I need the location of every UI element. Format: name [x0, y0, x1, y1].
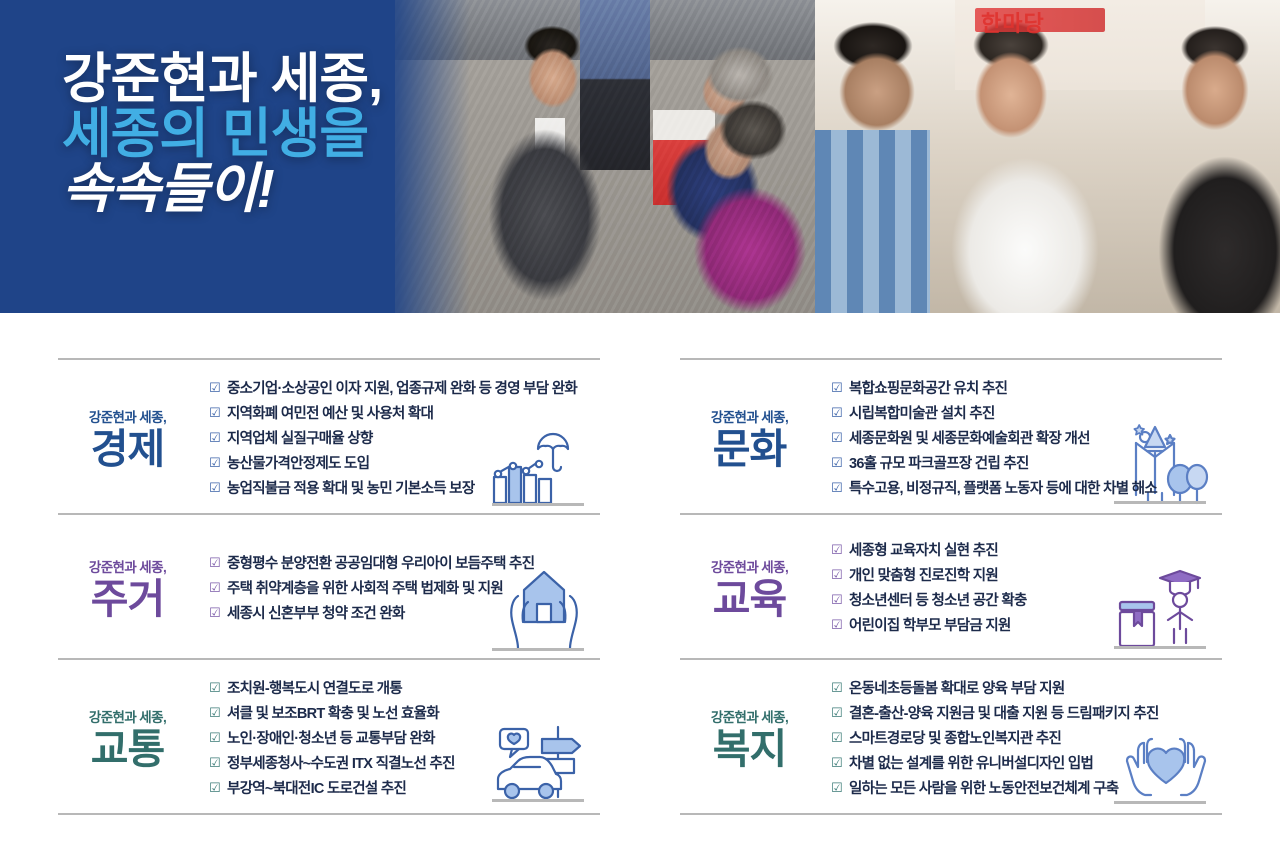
- pledge-item-text: 청소년센터 등 청소년 공간 확충: [849, 590, 1027, 612]
- pledge-item: ☑차별 없는 설계를 위한 유니버설디자인 입법: [831, 751, 1222, 776]
- photo-festival-embrace: [815, 0, 1280, 313]
- pledge-item-text: 세종형 교육자치 실현 추진: [849, 540, 998, 562]
- card-label-경제: 강준현과 세종,경제: [58, 406, 203, 471]
- checkbox-checked-icon: ☑: [831, 378, 842, 399]
- card-title: 교육: [680, 578, 819, 621]
- pledge-item: ☑조치원-행복도시 연결도로 개통: [209, 676, 600, 701]
- pledge-card-복지: 강준현과 세종,복지☑온동네초등돌봄 확대로 양육 부담 지원☑결혼-출산-양육…: [680, 658, 1222, 815]
- pledge-item: ☑정부세종청사~수도권 ITX 직결노선 추진: [209, 751, 600, 776]
- header-banner: 한마당 강준현과 세종, 세종의 민생을 속속들이!: [0, 0, 1280, 313]
- checkbox-checked-icon: ☑: [831, 703, 842, 724]
- pledge-item: ☑특수고용, 비정규직, 플랫폼 노동자 등에 대한 차별 해소: [831, 476, 1222, 501]
- pledge-item-text: 조치원-행복도시 연결도로 개통: [227, 678, 402, 700]
- pledge-item-text: 중소기업·소상공인 이자 지원, 업종규제 완화 등 경영 부담 완화: [227, 378, 577, 400]
- pledge-item-text: 차별 없는 설계를 위한 유니버설디자인 입법: [849, 753, 1093, 775]
- pledge-item: ☑스마트경로당 및 종합노인복지관 추진: [831, 726, 1222, 751]
- pledge-column-right: 강준현과 세종,문화☑복합쇼핑문화공간 유치 추진☑시립복합미술관 설치 추진☑…: [680, 358, 1222, 830]
- card-label-문화: 강준현과 세종,문화: [680, 406, 825, 471]
- pledge-item: ☑시립복합미술관 설치 추진: [831, 401, 1222, 426]
- checkbox-checked-icon: ☑: [831, 453, 842, 474]
- checkbox-checked-icon: ☑: [831, 403, 842, 424]
- pledge-card-경제: 강준현과 세종,경제☑중소기업·소상공인 이자 지원, 업종규제 완화 등 경영…: [58, 358, 600, 513]
- pledge-item: ☑중형평수 분양전환 공공임대형 우리아이 보듬주택 추진: [209, 551, 600, 576]
- pledge-grid: 강준현과 세종,경제☑중소기업·소상공인 이자 지원, 업종규제 완화 등 경영…: [0, 313, 1280, 850]
- card-eyebrow: 강준현과 세종,: [680, 406, 819, 426]
- card-label-교육: 강준현과 세종,교육: [680, 556, 825, 621]
- pledge-list: ☑조치원-행복도시 연결도로 개통☑셔클 및 보조BRT 확충 및 노선 효율화…: [203, 676, 600, 801]
- pledge-item-text: 어린이집 학부모 부담금 지원: [849, 615, 1011, 637]
- pledge-card-주거: 강준현과 세종,주거☑중형평수 분양전환 공공임대형 우리아이 보듬주택 추진☑…: [58, 513, 600, 658]
- checkbox-checked-icon: ☑: [831, 678, 842, 699]
- checkbox-checked-icon: ☑: [831, 428, 842, 449]
- card-title: 문화: [680, 428, 819, 471]
- pledge-item-text: 지역화폐 여민전 예산 및 사용처 확대: [227, 403, 433, 425]
- pledge-card-문화: 강준현과 세종,문화☑복합쇼핑문화공간 유치 추진☑시립복합미술관 설치 추진☑…: [680, 358, 1222, 513]
- pledge-item: ☑세종형 교육자치 실현 추진: [831, 539, 1222, 564]
- pledge-item-text: 세종문화원 및 세종문화예술회관 확장 개선: [849, 428, 1090, 450]
- pledge-item-text: 결혼-출산-양육 지원금 및 대출 지원 등 드림패키지 추진: [849, 703, 1159, 725]
- pledge-item-text: 정부세종청사~수도권 ITX 직결노선 추진: [227, 753, 455, 775]
- pledge-column-left: 강준현과 세종,경제☑중소기업·소상공인 이자 지원, 업종규제 완화 등 경영…: [58, 358, 600, 830]
- checkbox-checked-icon: ☑: [209, 678, 220, 699]
- card-title: 복지: [680, 728, 819, 771]
- checkbox-checked-icon: ☑: [209, 403, 220, 424]
- pledge-card-교육: 강준현과 세종,교육☑세종형 교육자치 실현 추진☑개인 맞춤형 진로진학 지원…: [680, 513, 1222, 658]
- pledge-item-text: 복합쇼핑문화공간 유치 추진: [849, 378, 1007, 400]
- pledge-item: ☑농산물가격안정제도 도입: [209, 451, 600, 476]
- card-eyebrow: 강준현과 세종,: [58, 406, 197, 426]
- pledge-item: ☑일하는 모든 사람을 위한 노동안전보건체계 구축: [831, 776, 1222, 801]
- pledge-list: ☑온동네초등돌봄 확대로 양육 부담 지원☑결혼-출산-양육 지원금 및 대출 …: [825, 676, 1222, 801]
- pledge-list: ☑중소기업·소상공인 이자 지원, 업종규제 완화 등 경영 부담 완화☑지역화…: [203, 376, 600, 501]
- pledge-item: ☑36홀 규모 파크골프장 건립 추진: [831, 451, 1222, 476]
- pledge-item: ☑주택 취약계층을 위한 사회적 주택 법제화 및 지원: [209, 576, 600, 601]
- pledge-item-text: 부강역~북대전IC 도로건설 추진: [227, 778, 406, 800]
- pledge-item: ☑어린이집 학부모 부담금 지원: [831, 614, 1222, 639]
- checkbox-checked-icon: ☑: [209, 728, 220, 749]
- checkbox-checked-icon: ☑: [209, 753, 220, 774]
- pledge-item: ☑개인 맞춤형 진로진학 지원: [831, 564, 1222, 589]
- checkbox-checked-icon: ☑: [831, 753, 842, 774]
- header-photo-right: 한마당: [815, 0, 1280, 313]
- checkbox-checked-icon: ☑: [831, 565, 842, 586]
- checkbox-checked-icon: ☑: [831, 540, 842, 561]
- pledge-item-text: 농업직불금 적용 확대 및 농민 기본소득 보장: [227, 478, 475, 500]
- pledge-item-text: 세종시 신혼부부 청약 조건 완화: [227, 603, 405, 625]
- pledge-item: ☑세종시 신혼부부 청약 조건 완화: [209, 601, 600, 626]
- card-eyebrow: 강준현과 세종,: [58, 556, 197, 576]
- checkbox-checked-icon: ☑: [831, 478, 842, 499]
- checkbox-checked-icon: ☑: [831, 728, 842, 749]
- pledge-list: ☑중형평수 분양전환 공공임대형 우리아이 보듬주택 추진☑주택 취약계층을 위…: [203, 551, 600, 626]
- checkbox-checked-icon: ☑: [209, 603, 220, 624]
- pledge-item: ☑부강역~북대전IC 도로건설 추진: [209, 776, 600, 801]
- pledge-item-text: 스마트경로당 및 종합노인복지관 추진: [849, 728, 1061, 750]
- pledge-item: ☑중소기업·소상공인 이자 지원, 업종규제 완화 등 경영 부담 완화: [209, 376, 600, 401]
- pledge-item-text: 특수고용, 비정규직, 플랫폼 노동자 등에 대한 차별 해소: [849, 478, 1157, 500]
- headline-line-1: 강준현과 세종,: [62, 52, 382, 107]
- card-label-교통: 강준현과 세종,교통: [58, 706, 203, 771]
- card-eyebrow: 강준현과 세종,: [58, 706, 197, 726]
- checkbox-checked-icon: ☑: [209, 578, 220, 599]
- pledge-item: ☑셔클 및 보조BRT 확충 및 노선 효율화: [209, 701, 600, 726]
- pledge-list: ☑복합쇼핑문화공간 유치 추진☑시립복합미술관 설치 추진☑세종문화원 및 세종…: [825, 376, 1222, 501]
- checkbox-checked-icon: ☑: [831, 615, 842, 636]
- pledge-item: ☑복합쇼핑문화공간 유치 추진: [831, 376, 1222, 401]
- festival-banner-text: 한마당: [981, 6, 1045, 38]
- pledge-item: ☑농업직불금 적용 확대 및 농민 기본소득 보장: [209, 476, 600, 501]
- headline: 강준현과 세종, 세종의 민생을 속속들이!: [62, 52, 382, 217]
- pledge-item: ☑지역화폐 여민전 예산 및 사용처 확대: [209, 401, 600, 426]
- checkbox-checked-icon: ☑: [209, 703, 220, 724]
- pledge-item: ☑세종문화원 및 세종문화예술회관 확장 개선: [831, 426, 1222, 451]
- pledge-item: ☑온동네초등돌봄 확대로 양육 부담 지원: [831, 676, 1222, 701]
- headline-line-3: 속속들이!: [62, 162, 382, 217]
- card-label-복지: 강준현과 세종,복지: [680, 706, 825, 771]
- pledge-item-text: 셔클 및 보조BRT 확충 및 노선 효율화: [227, 703, 439, 725]
- pledge-item: ☑결혼-출산-양육 지원금 및 대출 지원 등 드림패키지 추진: [831, 701, 1222, 726]
- pledge-item-text: 일하는 모든 사람을 위한 노동안전보건체계 구축: [849, 778, 1118, 800]
- pledge-item: ☑지역업체 실질구매율 상향: [209, 426, 600, 451]
- pledge-item-text: 노인·장애인·청소년 등 교통부담 완화: [227, 728, 435, 750]
- pledge-item-text: 개인 맞춤형 진로진학 지원: [849, 565, 998, 587]
- headline-line-2: 세종의 민생을: [62, 107, 382, 162]
- card-eyebrow: 강준현과 세종,: [680, 556, 819, 576]
- pledge-item-text: 36홀 규모 파크골프장 건립 추진: [849, 453, 1029, 475]
- pledge-item-text: 농산물가격안정제도 도입: [227, 453, 369, 475]
- pledge-list: ☑세종형 교육자치 실현 추진☑개인 맞춤형 진로진학 지원☑청소년센터 등 청…: [825, 539, 1222, 639]
- pledge-item-text: 온동네초등돌봄 확대로 양육 부담 지원: [849, 678, 1065, 700]
- checkbox-checked-icon: ☑: [209, 378, 220, 399]
- poster-root: 한마당 강준현과 세종, 세종의 민생을 속속들이! 강준현과 세종,경제☑중소…: [0, 0, 1280, 850]
- checkbox-checked-icon: ☑: [209, 428, 220, 449]
- checkbox-checked-icon: ☑: [209, 778, 220, 799]
- checkbox-checked-icon: ☑: [831, 778, 842, 799]
- card-title: 교통: [58, 728, 197, 771]
- pledge-item-text: 중형평수 분양전환 공공임대형 우리아이 보듬주택 추진: [227, 553, 534, 575]
- card-title: 경제: [58, 428, 197, 471]
- pledge-item-text: 시립복합미술관 설치 추진: [849, 403, 995, 425]
- card-label-주거: 강준현과 세종,주거: [58, 556, 203, 621]
- pledge-item: ☑노인·장애인·청소년 등 교통부담 완화: [209, 726, 600, 751]
- pledge-item: ☑청소년센터 등 청소년 공간 확충: [831, 589, 1222, 614]
- pledge-item-text: 지역업체 실질구매율 상향: [227, 428, 373, 450]
- checkbox-checked-icon: ☑: [831, 590, 842, 611]
- card-eyebrow: 강준현과 세종,: [680, 706, 819, 726]
- pledge-item-text: 주택 취약계층을 위한 사회적 주택 법제화 및 지원: [227, 578, 503, 600]
- checkbox-checked-icon: ☑: [209, 553, 220, 574]
- card-title: 주거: [58, 578, 197, 621]
- pledge-card-교통: 강준현과 세종,교통☑조치원-행복도시 연결도로 개통☑셔클 및 보조BRT 확…: [58, 658, 600, 815]
- checkbox-checked-icon: ☑: [209, 478, 220, 499]
- checkbox-checked-icon: ☑: [209, 453, 220, 474]
